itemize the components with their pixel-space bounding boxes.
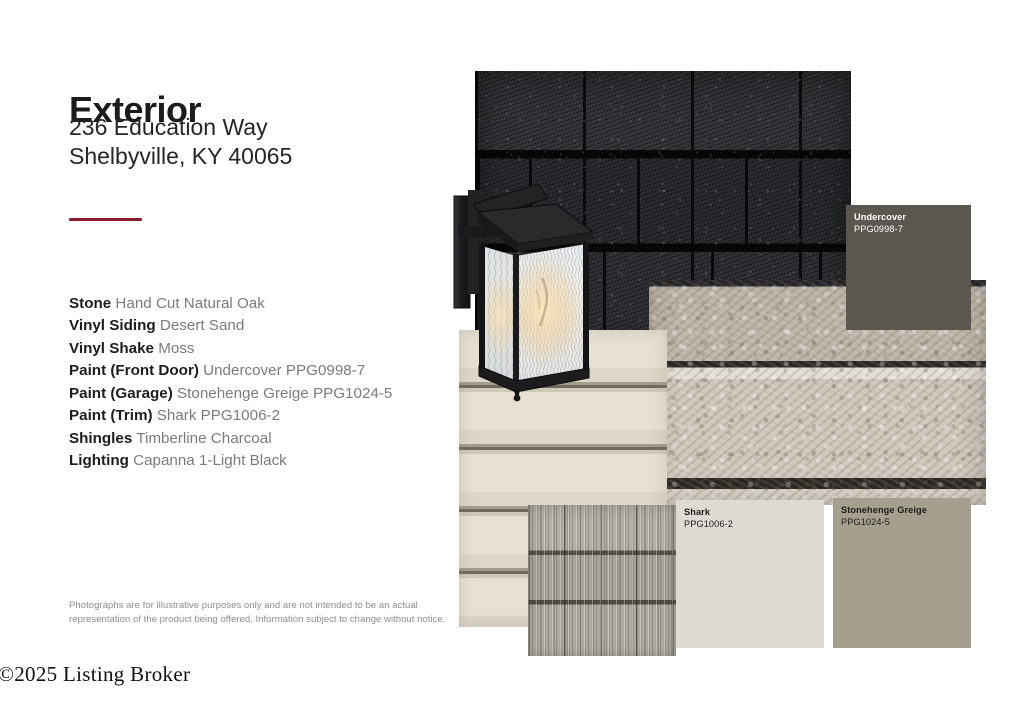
spec-label: Stone (69, 295, 111, 312)
swatch-shark: Shark PPG1006-2 (676, 500, 824, 648)
spec-label: Lighting (69, 452, 129, 469)
swatch-stonehenge-greige-name: Stonehenge Greige (841, 505, 927, 517)
vinyl-siding-photo (459, 330, 667, 627)
spec-value: Shark PPG1006-2 (153, 407, 280, 424)
specification-list: Stone Hand Cut Natural OakVinyl Siding D… (69, 293, 459, 472)
spec-value: Timberline Charcoal (132, 430, 271, 447)
disclaimer-text: Photographs are for illustrative purpose… (69, 599, 479, 626)
spec-label: Vinyl Shake (69, 340, 154, 357)
stone-photo (649, 280, 986, 505)
swatch-shark-code: PPG1006-2 (684, 519, 733, 531)
spec-value: Undercover PPG0998-7 (199, 362, 365, 379)
spec-label: Paint (Trim) (69, 407, 153, 424)
spec-value: Capanna 1-Light Black (129, 452, 287, 469)
swatch-undercover-name: Undercover (854, 212, 906, 224)
spec-row: Lighting Capanna 1-Light Black (69, 450, 459, 472)
accent-rule (69, 218, 142, 221)
copyright-notice: ©2025 Listing Broker (0, 662, 190, 687)
spec-value: Hand Cut Natural Oak (111, 295, 265, 312)
swatch-stonehenge-greige: Stonehenge Greige PPG1024-5 (833, 498, 971, 648)
spec-row: Paint (Trim) Shark PPG1006-2 (69, 405, 459, 427)
spec-row: Vinyl Shake Moss (69, 338, 459, 360)
spec-label: Paint (Front Door) (69, 362, 199, 379)
swatch-undercover: Undercover PPG0998-7 (846, 205, 971, 330)
swatch-undercover-text: Undercover PPG0998-7 (854, 212, 906, 235)
swatch-shark-name: Shark (684, 507, 733, 519)
property-address: 236 Education Way Shelbyville, KY 40065 (69, 113, 292, 172)
lantern-photo (452, 182, 600, 402)
spec-row: Shingles Timberline Charcoal (69, 428, 459, 450)
vinyl-shake-photo (528, 505, 676, 656)
spec-label: Shingles (69, 430, 132, 447)
spec-value: Desert Sand (156, 317, 245, 334)
swatch-undercover-code: PPG0998-7 (854, 224, 906, 236)
spec-value: Stonehenge Greige PPG1024-5 (173, 385, 393, 402)
spec-row: Paint (Front Door) Undercover PPG0998-7 (69, 360, 459, 382)
spec-row: Vinyl Siding Desert Sand (69, 315, 459, 337)
spec-row: Stone Hand Cut Natural Oak (69, 293, 459, 315)
spec-label: Vinyl Siding (69, 317, 156, 334)
spec-label: Paint (Garage) (69, 385, 173, 402)
swatch-shark-text: Shark PPG1006-2 (684, 507, 733, 530)
swatch-stonehenge-greige-text: Stonehenge Greige PPG1024-5 (841, 505, 927, 528)
swatch-stonehenge-greige-code: PPG1024-5 (841, 517, 927, 529)
spec-row: Paint (Garage) Stonehenge Greige PPG1024… (69, 383, 459, 405)
shingles-photo (475, 71, 851, 354)
spec-value: Moss (154, 340, 195, 357)
